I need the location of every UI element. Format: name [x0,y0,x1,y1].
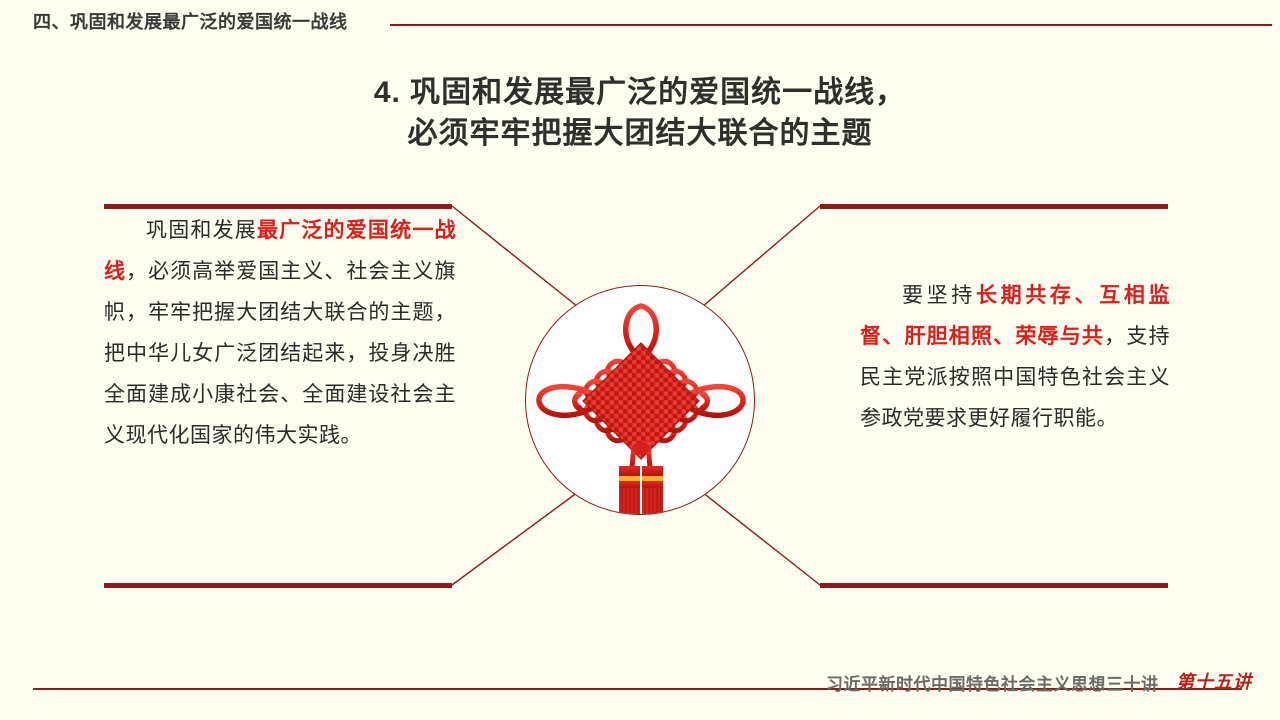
page-title: 4. 巩固和发展最广泛的爱国统一战线， 必须牢牢把握大团结大联合的主题 [0,72,1280,154]
slide-header: 四、巩固和发展最广泛的爱国统一战线 [0,0,1280,44]
section-heading: 四、巩固和发展最广泛的爱国统一战线 [33,8,348,34]
right-panel-bottom-rule [820,583,1168,588]
left-seg-2: ，必须高举爱国主义、社会主义旗帜，牢牢把握大团结大联合的主题，把中华儿女广泛团结… [104,260,456,447]
right-panel-top-rule [820,204,1168,209]
knot-medallion [525,285,755,515]
tassel-left [619,466,640,514]
footer-book-title: 习近平新时代中国特色社会主义思想三十讲 [826,670,1159,695]
right-seg-0: 要坚持 [902,284,976,307]
right-text-panel: 要坚持长期共存、互相监督、肝胆相照、荣辱与共，支持民主党派按照中国特色社会主义参… [860,275,1170,439]
footer-lecture-number: 第十五讲 [1176,668,1252,694]
left-panel-bottom-rule [104,583,452,588]
left-text-panel: 巩固和发展最广泛的爱国统一战线，必须高举爱国主义、社会主义旗帜，牢牢把握大团结大… [104,210,456,456]
right-panel-paragraph: 要坚持长期共存、互相监督、肝胆相照、荣辱与共，支持民主党派按照中国特色社会主义参… [860,275,1170,439]
page-title-line-1: 4. 巩固和发展最广泛的爱国统一战线， [0,72,1280,113]
left-panel-paragraph: 巩固和发展最广泛的爱国统一战线，必须高举爱国主义、社会主义旗帜，牢牢把握大团结大… [104,210,456,456]
header-divider [390,24,1272,26]
tassel-right [642,466,663,514]
chinese-knot-icon [526,286,755,515]
slide-root: 四、巩固和发展最广泛的爱国统一战线 4. 巩固和发展最广泛的爱国统一战线， 必须… [0,0,1280,720]
left-seg-0: 巩固和发展 [146,219,257,242]
left-panel-top-rule [104,204,452,209]
page-title-line-2: 必须牢牢把握大团结大联合的主题 [0,113,1280,154]
